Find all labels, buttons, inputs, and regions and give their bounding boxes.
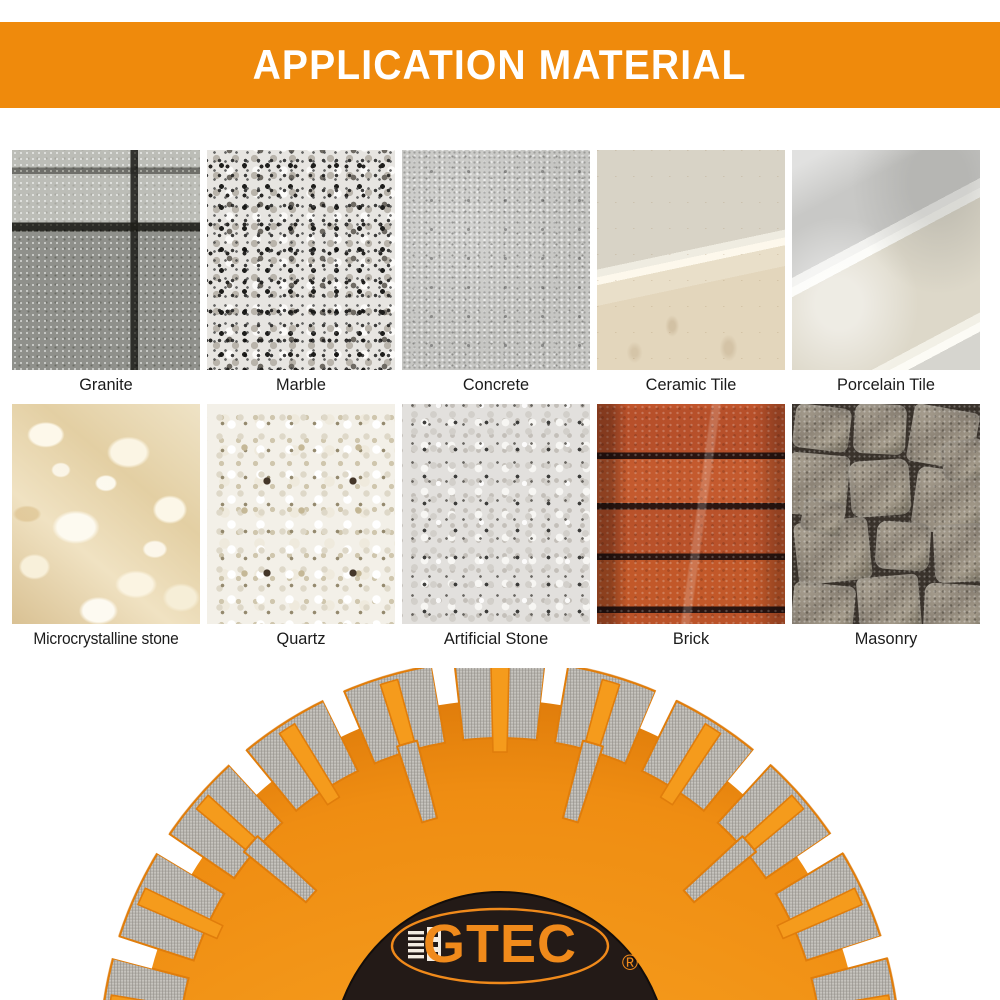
material-label: Artificial Stone [406,624,586,654]
material-cell-porcelain-tile: Porcelain Tile [792,150,980,400]
masonry-stone [933,523,980,584]
material-row: Granite Marble Concrete Ceramic Tile Por… [12,150,988,400]
material-thumbnail-microcrystalline-stone [12,404,200,624]
infographic-page: APPLICATION MATERIAL Granite Marble Conc… [0,0,1000,1000]
material-label: Granite [16,370,196,400]
logo-brand-text: GTEC [423,914,577,974]
blade-slot [491,668,509,752]
material-cell-marble: Marble [207,150,395,400]
masonry-stone [874,520,931,572]
material-label: Brick [601,624,781,654]
material-cell-ceramic-tile: Ceramic Tile [597,150,785,400]
material-thumbnail-ceramic-tile [597,150,785,370]
material-row: Microcrystalline stone Quartz Artificial… [12,404,988,654]
masonry-stone [848,458,912,518]
material-label: Quartz [211,624,391,654]
material-thumbnail-concrete [402,150,590,370]
material-cell-artificial-stone: Artificial Stone [402,404,590,654]
material-cell-brick: Brick [597,404,785,654]
material-thumbnail-porcelain-tile [792,150,980,370]
material-label: Masonry [796,624,976,654]
material-thumbnail-quartz [207,404,395,624]
material-thumbnail-artificial-stone [402,404,590,624]
masonry-stone [856,573,923,624]
material-thumbnail-masonry [792,404,980,624]
header-banner: APPLICATION MATERIAL [0,22,1000,108]
logo-trademark-symbol: ® [622,950,638,975]
masonry-stone [792,404,852,453]
material-cell-granite: Granite [12,150,200,400]
material-label: Microcrystalline stone [16,624,196,654]
product-image-saw-blade: GTEC ® [0,668,1000,1000]
material-label: Marble [211,370,391,400]
masonry-stone [923,582,980,624]
material-label: Porcelain Tile [796,370,976,400]
material-thumbnail-brick [597,404,785,624]
material-grid: Granite Marble Concrete Ceramic Tile Por… [12,150,988,658]
material-label: Concrete [406,370,586,400]
material-cell-concrete: Concrete [402,150,590,400]
material-label: Ceramic Tile [601,370,781,400]
saw-blade-illustration: GTEC ® [0,668,1000,1000]
material-cell-quartz: Quartz [207,404,395,654]
material-cell-masonry: Masonry [792,404,980,654]
page-title: APPLICATION MATERIAL [253,41,747,89]
material-thumbnail-marble [207,150,395,370]
masonry-stone [853,404,908,455]
masonry-stone [792,581,857,624]
masonry-stone [939,437,980,483]
material-thumbnail-granite [12,150,200,370]
material-cell-microcrystalline-stone: Microcrystalline stone [12,404,200,654]
